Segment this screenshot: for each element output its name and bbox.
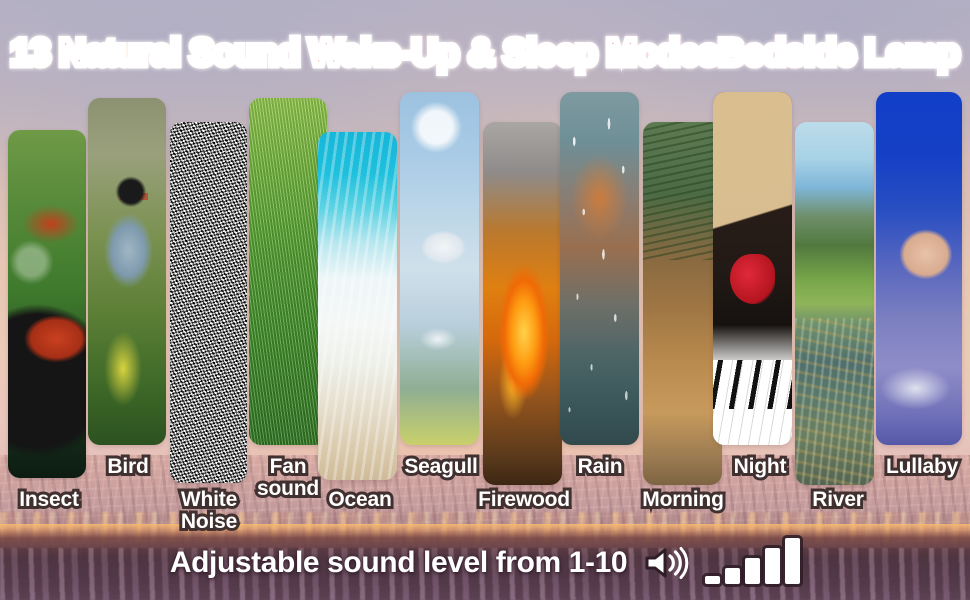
raindrops-overlay [560,92,639,445]
sound-mode-strip[interactable] [483,122,562,485]
sound-mode-strip[interactable] [795,122,874,485]
sound-mode-image [795,122,874,485]
sound-level-bar [725,568,740,584]
river-water-overlay [795,318,874,485]
white-noise-texture-2 [170,122,247,483]
promo-scene: 13 Natural Sound Wake-Up & Sleep ModesBe… [0,0,970,600]
sound-mode-image [170,122,247,483]
sound-mode-image [643,122,722,485]
sound-mode-strip[interactable] [88,98,166,445]
sound-mode-strip[interactable] [170,122,247,483]
sea-foam-overlay [318,132,397,480]
sound-level-bars [705,542,800,584]
sound-mode-label: Insect [8,489,90,511]
sound-mode-label: Seagull [396,456,486,478]
sound-mode-label: Rain [560,456,640,478]
sound-mode-image [400,92,479,445]
sound-mode-image [318,132,397,480]
sound-mode-strip[interactable] [318,132,397,480]
page-title: 13 Natural Sound Wake-Up & Sleep ModesBe… [11,32,959,74]
sound-mode-image [8,130,86,478]
sound-mode-label: Bird [88,456,168,478]
sound-mode-label: Ocean [318,489,402,511]
sound-level-bar [785,538,800,584]
sound-mode-strip[interactable] [400,92,479,445]
sound-level-bar [765,548,780,584]
speaker-volume-icon [643,545,689,581]
sound-level-text: Adjustable sound level from 1-10 [170,546,627,580]
sound-mode-strip[interactable] [249,98,327,445]
rose-flower [730,254,774,303]
sound-mode-image [713,92,792,445]
sound-mode-label: River [795,489,881,511]
sound-mode-strip[interactable] [8,130,86,478]
sound-mode-label: Fan sound [247,456,329,500]
headline-container: 13 Natural Sound Wake-Up & Sleep ModesBe… [0,27,970,79]
sound-mode-strip[interactable] [876,92,962,445]
sound-mode-label: White Noise [166,489,252,533]
sound-mode-image [249,98,327,445]
sound-level-bar [705,576,720,584]
sound-mode-image [560,92,639,445]
piano-keys [713,360,792,445]
sound-mode-image [88,98,166,445]
sound-mode-label: Morning [632,489,734,511]
sound-level-bar [745,558,760,584]
sound-mode-strip[interactable] [643,122,722,485]
sound-mode-image [876,92,962,445]
sound-mode-label: Lullaby [876,456,968,478]
sound-mode-image [483,122,562,485]
sound-level-banner: Adjustable sound level from 1-10 [0,540,970,586]
sound-mode-strip[interactable] [713,92,792,445]
sound-mode-label: Night [718,456,802,478]
sound-mode-strip[interactable] [560,92,639,445]
sound-mode-label: Firewood [475,489,573,511]
